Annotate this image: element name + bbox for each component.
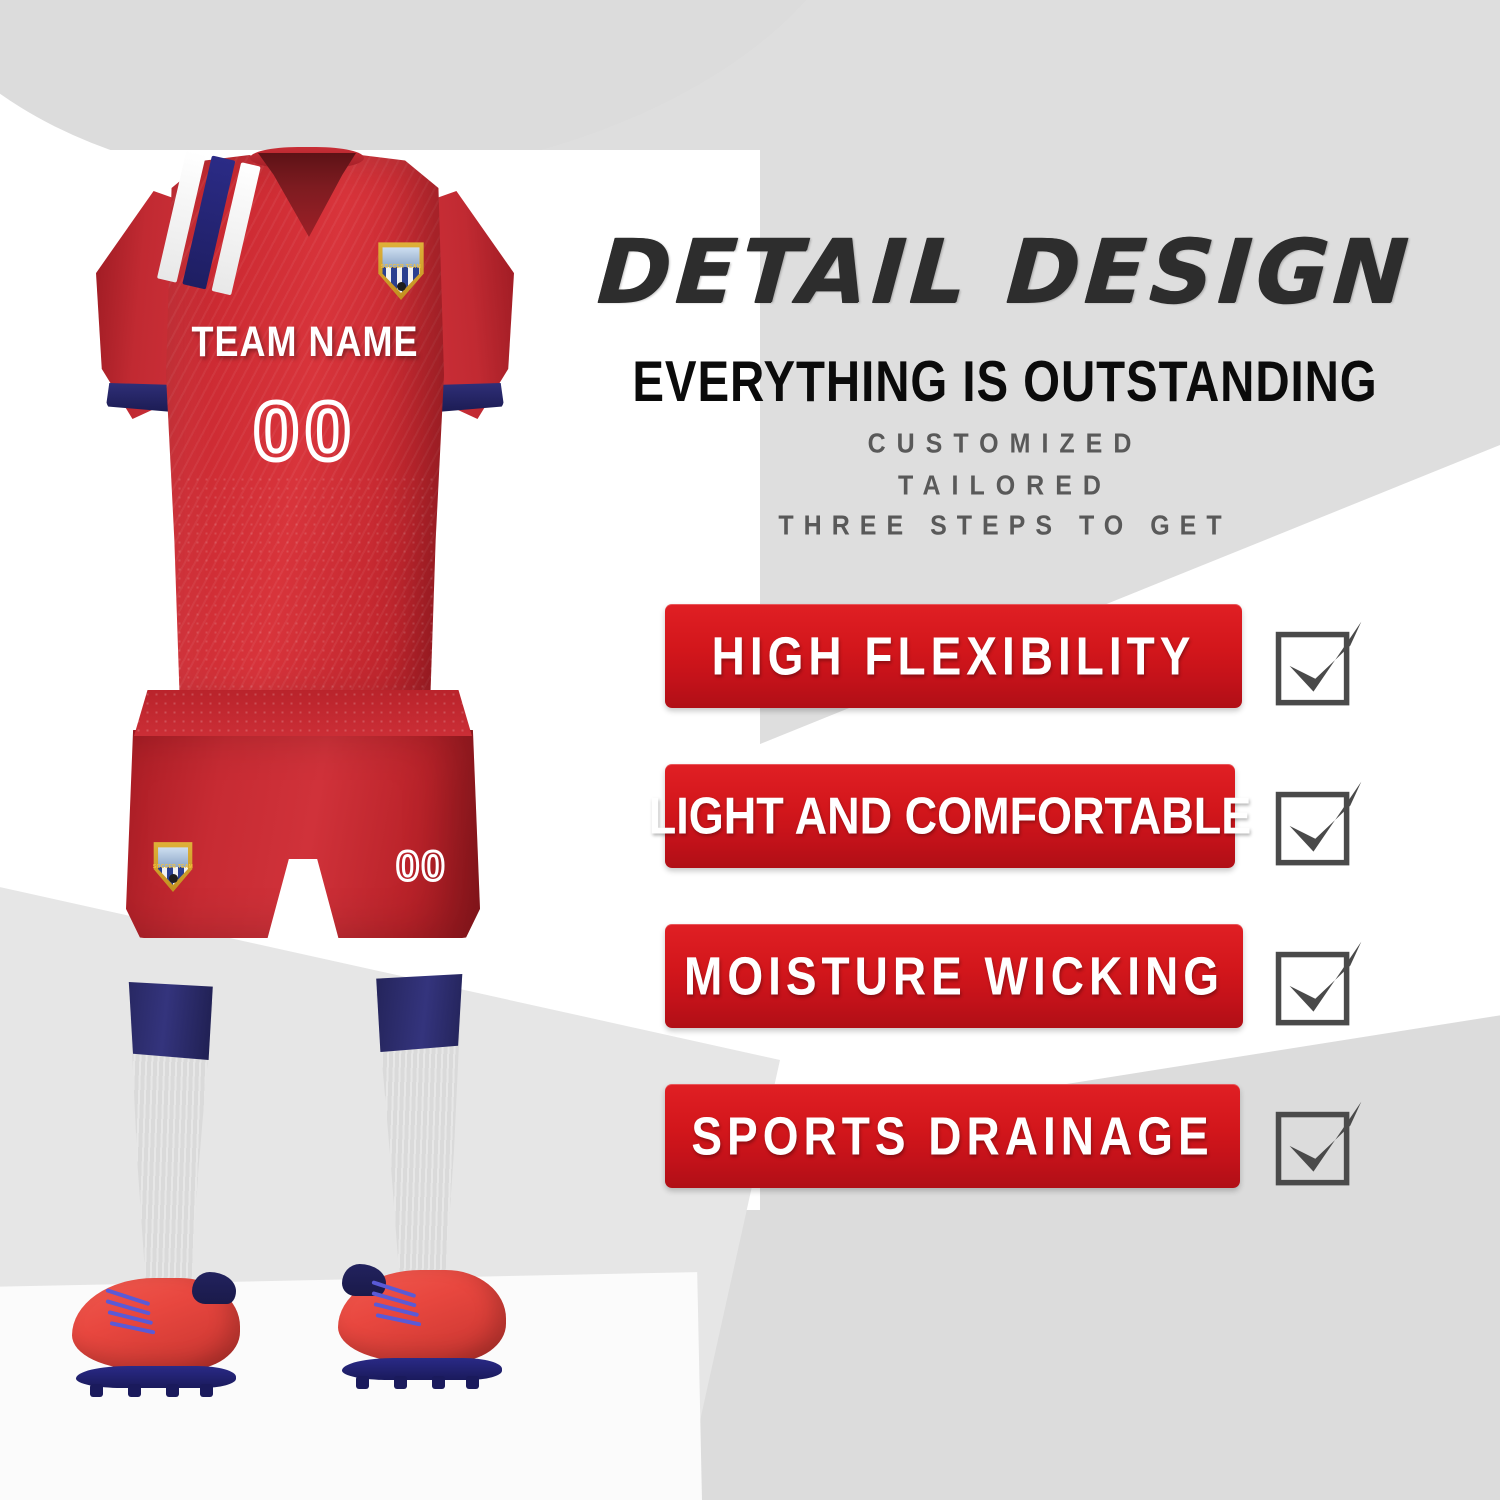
boot-heel (192, 1272, 236, 1304)
checkmark-icon (1273, 1098, 1365, 1190)
feature-badge-light-and-comfortable: LIGHT AND COMFORTABLE (665, 764, 1235, 868)
feature-label: MOISTURE WICKING (684, 945, 1224, 1008)
boot-right (338, 1264, 506, 1382)
feature-row: HIGH FLEXIBILITY (555, 604, 1500, 764)
boot-laces (372, 1278, 444, 1322)
soccer-jersey: SOCCER TEAM TEAM NAME 00 (88, 145, 518, 705)
info-panel: DETAIL DESIGN EVERYTHING IS OUTSTANDING … (555, 0, 1500, 1500)
soccer-ball-icon (169, 874, 178, 883)
boot-stud (394, 1376, 407, 1389)
shorts-waistband (134, 690, 472, 736)
tagline-tailored: TAILORED (555, 471, 1455, 503)
feature-row: MOISTURE WICKING (555, 924, 1500, 1084)
boot-stud (128, 1384, 141, 1397)
boot-stud (432, 1376, 445, 1389)
checkmark-icon (1273, 778, 1365, 870)
boot-stud (466, 1376, 479, 1389)
soccer-ball-icon (397, 282, 406, 291)
boot-stud (90, 1384, 103, 1397)
boot-stud (200, 1384, 213, 1397)
shorts-team-badge: SOCCER TEAM (150, 840, 196, 892)
sock-cuff-right (372, 974, 477, 1052)
feature-row: LIGHT AND COMFORTABLE (555, 764, 1500, 924)
jersey-team-badge: SOCCER TEAM (374, 240, 428, 300)
socks-and-boots (60, 960, 580, 1460)
badge-label: SOCCER TEAM (374, 264, 428, 270)
soccer-shorts: SOCCER TEAM 00 (118, 690, 488, 940)
page-subtitle: EVERYTHING IS OUTSTANDING (587, 348, 1424, 414)
jersey-team-name-text: TEAM NAME (166, 317, 444, 367)
shorts-body (126, 730, 480, 938)
badge-label: SOCCER TEAM (150, 864, 196, 870)
tagline-customized: CUSTOMIZED (555, 429, 1455, 461)
feature-label: SPORTS DRAINAGE (691, 1105, 1213, 1168)
feature-label: LIGHT AND COMFORTABLE (649, 786, 1251, 846)
boot-stud (166, 1384, 179, 1397)
jersey-dot-texture (166, 475, 444, 707)
shorts-number-text: 00 (396, 842, 447, 890)
boot-stud (356, 1376, 369, 1389)
sock-cuff-left (112, 982, 217, 1060)
poster-canvas: SOCCER TEAM TEAM NAME 00 SOCCER TEAM 00 (0, 0, 1500, 1500)
feature-badge-sports-drainage: SPORTS DRAINAGE (665, 1084, 1240, 1188)
boot-left (72, 1272, 240, 1390)
tagline-three-steps: THREE STEPS TO GET (555, 511, 1455, 543)
checkmark-icon (1273, 618, 1365, 710)
feature-badge-high-flexibility: HIGH FLEXIBILITY (665, 604, 1242, 708)
jersey-number-text: 00 (166, 385, 444, 479)
boot-laces (106, 1286, 178, 1330)
checkmark-icon (1273, 938, 1365, 1030)
feature-label: HIGH FLEXIBILITY (712, 625, 1196, 688)
feature-list: HIGH FLEXIBILITY LIGHT AND COMFORTABLE (555, 604, 1500, 1244)
product-image: SOCCER TEAM TEAM NAME 00 SOCCER TEAM 00 (0, 0, 620, 1500)
feature-row: SPORTS DRAINAGE (555, 1084, 1500, 1244)
page-title: DETAIL DESIGN (552, 228, 1458, 316)
feature-badge-moisture-wicking: MOISTURE WICKING (665, 924, 1243, 1028)
